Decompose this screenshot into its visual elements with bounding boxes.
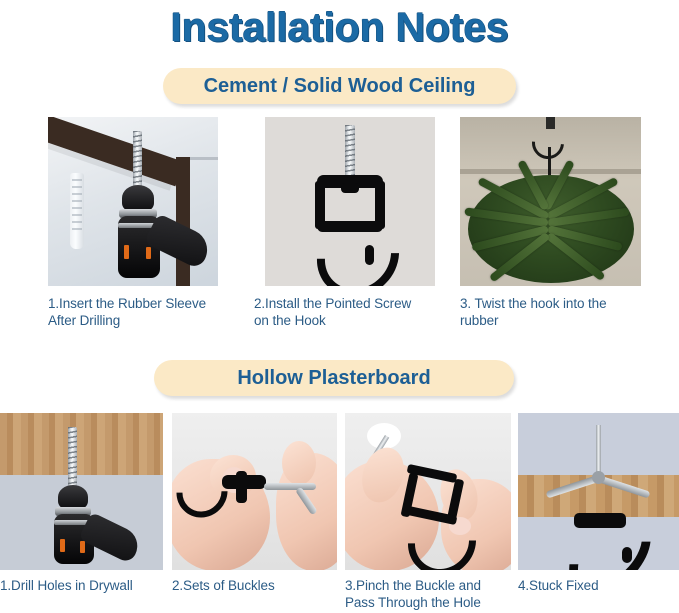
hook-tip (365, 245, 374, 265)
drill-chuck (122, 185, 154, 211)
step-caption-insert-rubber-sleeve: 1.Insert the Rubber Sleeve After Drillin… (48, 295, 224, 329)
step-image-drill-holes-in-drywall (0, 413, 163, 570)
hook-tip (622, 547, 632, 563)
drill-accent-2 (146, 247, 151, 259)
drill-accent-1 (124, 245, 129, 259)
step-image-hands-holding-toggle-buckle (172, 413, 337, 570)
step-caption-pinch-buckle-pass-through-hole: 3.Pinch the Buckle and Pass Through the … (345, 577, 513, 611)
rubber-sleeve (70, 173, 84, 249)
pointed-screw (345, 125, 355, 181)
step-caption-stuck-fixed: 4.Stuck Fixed (518, 577, 678, 594)
toggle-bolt-shaft (264, 483, 316, 490)
buckle-stem (236, 471, 247, 503)
step-image-drill-into-ceiling-with-rubber-sleeve (48, 117, 218, 286)
step-image-pinch-buckle-into-hole (345, 413, 511, 570)
step-caption-drill-holes-in-drywall: 1.Drill Holes in Drywall (0, 577, 163, 594)
section-heading-cement-solid-wood-ceiling: Cement / Solid Wood Ceiling (163, 68, 516, 104)
door-frame (176, 157, 190, 286)
drill-accent-2 (80, 541, 85, 553)
step-caption-sets-of-buckles: 2.Sets of Buckles (172, 577, 337, 594)
index-finger (282, 441, 316, 485)
toggle-pivot (592, 471, 605, 484)
drill-accent-1 (60, 539, 65, 552)
step-image-stuck-fixed (518, 413, 679, 570)
drill-bit (68, 427, 77, 493)
wood-ceiling-surface (0, 413, 163, 475)
page-title: Installation Notes (0, 2, 679, 52)
step-image-hanging-fern-plant (460, 117, 641, 286)
step-image-hook-with-pointed-screw (265, 117, 435, 286)
step-caption-install-pointed-screw: 2.Install the Pointed Screw on the Hook (254, 295, 424, 329)
section-heading-hollow-plasterboard: Hollow Plasterboard (154, 360, 514, 396)
hook-screw-nut (341, 183, 359, 193)
step-caption-twist-hook-into-rubber: 3. Twist the hook into the rubber (460, 295, 640, 329)
drill-chuck (58, 485, 88, 509)
wall-edge (190, 157, 218, 160)
drill-bit (133, 131, 142, 193)
